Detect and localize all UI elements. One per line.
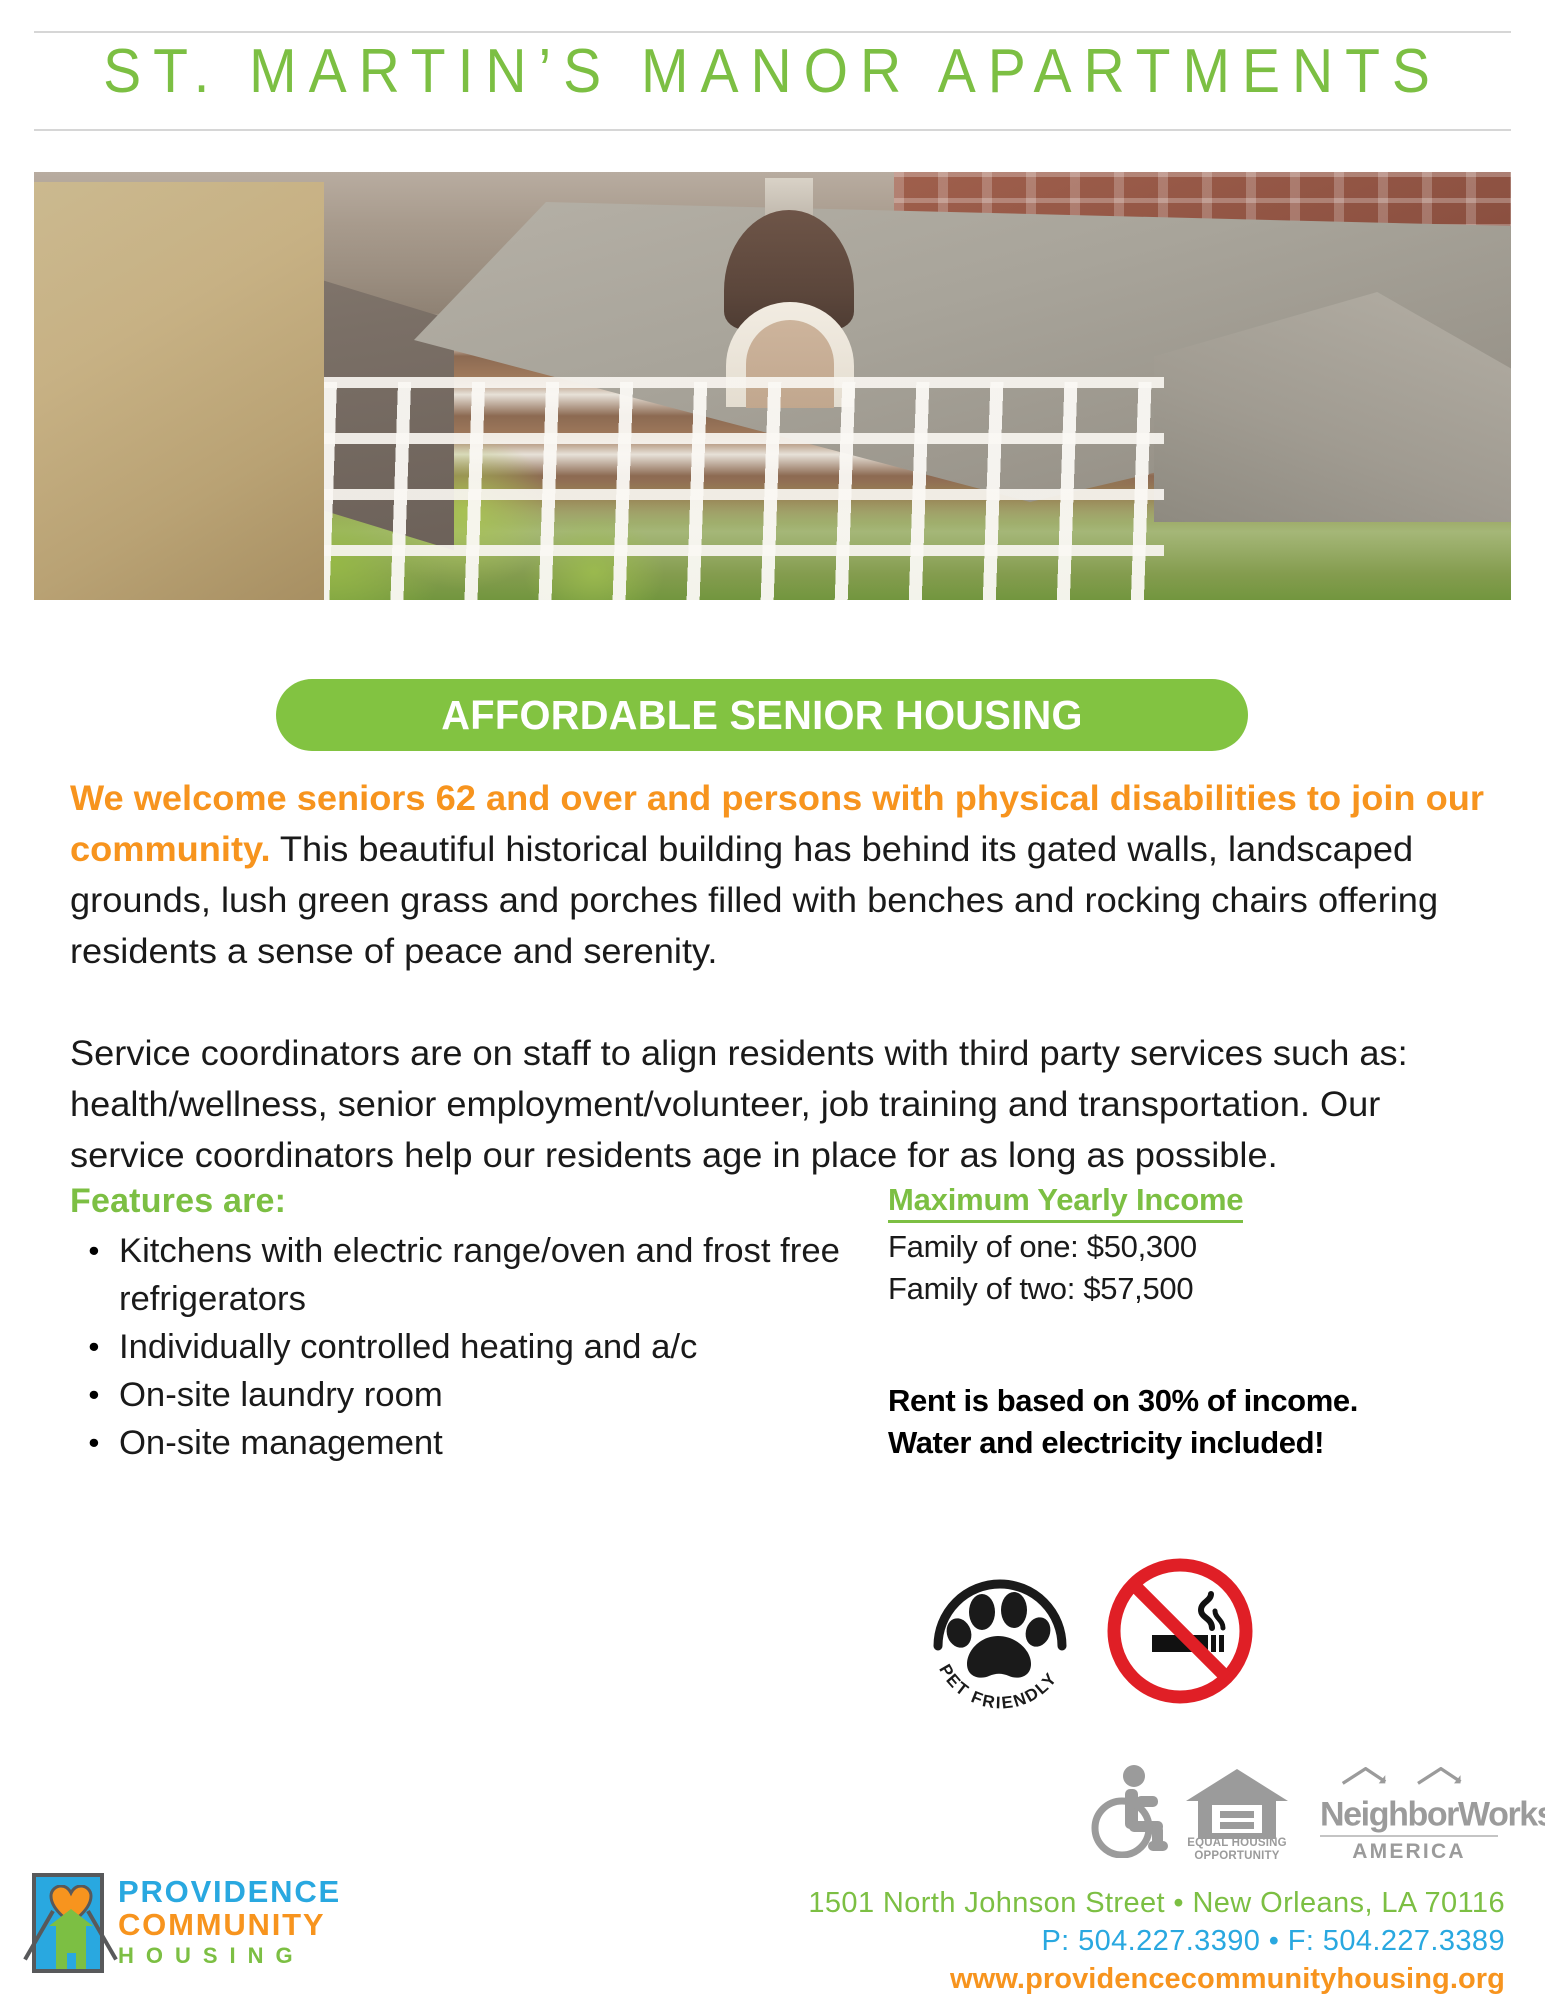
- rent-note: Rent is based on 30% of income. Water an…: [888, 1380, 1448, 1464]
- neighborworks-wordmark: NeighborWorks®: [1320, 1790, 1500, 1833]
- hero-photo: [34, 172, 1511, 600]
- page-title: ST. MARTIN’S MANOR APARTMENTS: [62, 36, 1483, 107]
- neighborworks-logo: NeighborWorks® AMERICA: [1320, 1767, 1500, 1857]
- paw-print-icon: PET FRIENDLY: [920, 1550, 1080, 1710]
- partner-logos: EQUAL HOUSING OPPORTUNITY NeighborWorks®…: [1090, 1745, 1500, 1865]
- list-item: Individually controlled heating and a/c: [70, 1323, 876, 1371]
- footer-phone[interactable]: P: 504.227.3390 • F: 504.227.3389: [725, 1922, 1505, 1960]
- affordable-senior-housing-banner: AFFORDABLE SENIOR HOUSING: [276, 679, 1248, 751]
- footer-contact: 1501 North Johnson Street • New Orleans,…: [725, 1884, 1505, 1998]
- income-family-two: Family of two: $57,500: [888, 1268, 1448, 1310]
- photo-gallery-columns: [324, 382, 1164, 600]
- body-copy: We welcome seniors 62 and over and perso…: [70, 773, 1470, 1181]
- utilities-included-line: Water and electricity included!: [888, 1422, 1448, 1464]
- banner-label: AFFORDABLE SENIOR HOUSING: [291, 679, 1234, 751]
- page-header: ST. MARTIN’S MANOR APARTMENTS: [0, 0, 1545, 145]
- income-column: Maximum Yearly Income Family of one: $50…: [888, 1182, 1448, 1464]
- house-icon: [56, 1925, 86, 1969]
- logo-word-providence: PROVIDENCE: [118, 1875, 341, 1908]
- logo-wordmark: PROVIDENCE COMMUNITY HOUSING: [118, 1875, 341, 1971]
- policy-badges: PET FRIENDLY: [920, 1540, 1220, 1720]
- equal-housing-line1: EQUAL HOUSING: [1182, 1837, 1292, 1850]
- pet-friendly-badge: PET FRIENDLY: [920, 1550, 1080, 1710]
- providence-community-housing-logo: PROVIDENCE COMMUNITY HOUSING: [32, 1873, 432, 1983]
- footer-website-link[interactable]: www.providencecommunityhousing.org: [725, 1960, 1505, 1998]
- neighborworks-divider: [1320, 1835, 1498, 1837]
- services-paragraph: Service coordinators are on staff to ali…: [70, 1028, 1498, 1181]
- features-list: Kitchens with electric range/oven and fr…: [70, 1227, 860, 1467]
- logo-word-community: COMMUNITY: [118, 1908, 341, 1941]
- income-heading-wrap: Maximum Yearly Income: [888, 1182, 1448, 1226]
- neighborworks-name: NeighborWorks: [1320, 1795, 1545, 1833]
- header-divider-top: [34, 31, 1511, 33]
- neighborworks-roof-icon: [1320, 1767, 1498, 1785]
- photo-left-building: [34, 182, 324, 600]
- wheelchair-accessible-icon: [1090, 1763, 1170, 1858]
- equal-housing-line2: OPPORTUNITY: [1182, 1850, 1292, 1863]
- header-divider-bottom: [34, 129, 1511, 131]
- heart-over-house-icon: [32, 1873, 104, 1973]
- no-smoking-badge: [1105, 1556, 1255, 1706]
- list-item: On-site management: [70, 1419, 876, 1467]
- footer-address: 1501 North Johnson Street • New Orleans,…: [725, 1884, 1505, 1922]
- income-heading: Maximum Yearly Income: [888, 1182, 1243, 1223]
- no-smoking-icon: [1105, 1556, 1255, 1706]
- features-column: Features are: Kitchens with electric ran…: [70, 1182, 860, 1467]
- equal-housing-caption: EQUAL HOUSING OPPORTUNITY: [1182, 1837, 1292, 1863]
- income-family-one: Family of one: $50,300: [888, 1226, 1448, 1268]
- list-item: Kitchens with electric range/oven and fr…: [70, 1227, 876, 1323]
- neighborworks-america: AMERICA: [1320, 1840, 1498, 1864]
- intro-rest-text: This beautiful historical building has b…: [70, 829, 1438, 971]
- list-item: On-site laundry room: [70, 1371, 876, 1419]
- house-door: [67, 1953, 76, 1969]
- rent-basis-line: Rent is based on 30% of income.: [888, 1380, 1448, 1422]
- features-heading: Features are:: [70, 1182, 860, 1221]
- logo-word-housing: HOUSING: [118, 1941, 341, 1971]
- aerial-building-photo: [34, 172, 1511, 600]
- intro-paragraph: We welcome seniors 62 and over and perso…: [70, 773, 1498, 977]
